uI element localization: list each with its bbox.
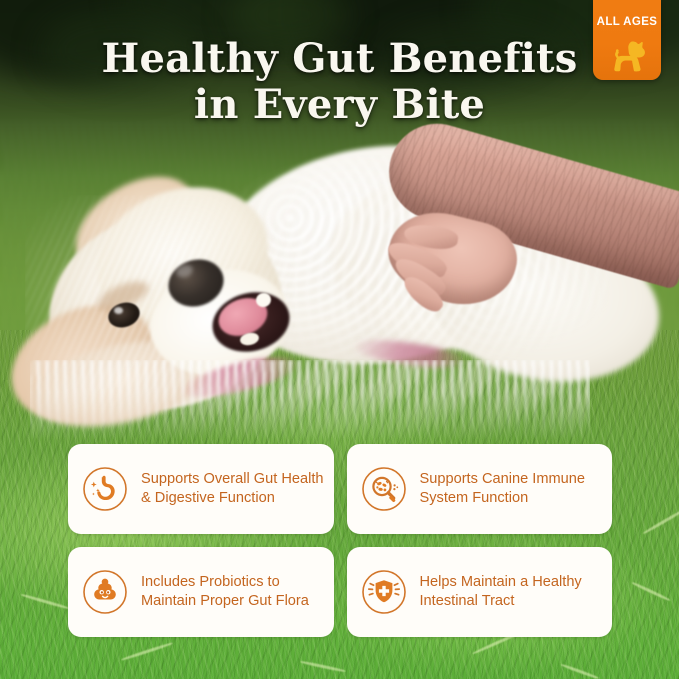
headline: Healthy Gut Benefits in Every Bite: [0, 36, 679, 127]
feature-card-text: Helps Maintain a Healthy Intestinal Trac…: [420, 573, 603, 611]
feature-card-text: Includes Probiotics to Maintain Proper G…: [141, 573, 324, 611]
feature-card-grid: Supports Overall Gut Health & Digestive …: [68, 444, 612, 637]
feature-card-text: Supports Canine Immune System Function: [420, 470, 603, 508]
feature-card-intestinal-tract: Helps Maintain a Healthy Intestinal Trac…: [347, 547, 613, 637]
poop-icon: [82, 569, 128, 615]
shield-plus-icon: [361, 569, 407, 615]
product-feature-poster: Healthy Gut Benefits in Every Bite ALL A…: [0, 0, 679, 679]
feature-card-gut-health: Supports Overall Gut Health & Digestive …: [68, 444, 334, 534]
sitting-dog-icon: [604, 36, 650, 80]
headline-line-1: Healthy Gut Benefits: [102, 35, 578, 82]
feature-card-immune-system: Supports Canine Immune System Function: [347, 444, 613, 534]
magnifier-microbes-icon: [361, 466, 407, 512]
all-ages-badge-label: ALL AGES: [593, 16, 661, 28]
headline-line-2: in Every Bite: [70, 82, 609, 128]
feature-card-text: Supports Overall Gut Health & Digestive …: [141, 470, 324, 508]
all-ages-badge: ALL AGES: [593, 0, 661, 80]
feature-card-probiotics: Includes Probiotics to Maintain Proper G…: [68, 547, 334, 637]
stomach-icon: [82, 466, 128, 512]
